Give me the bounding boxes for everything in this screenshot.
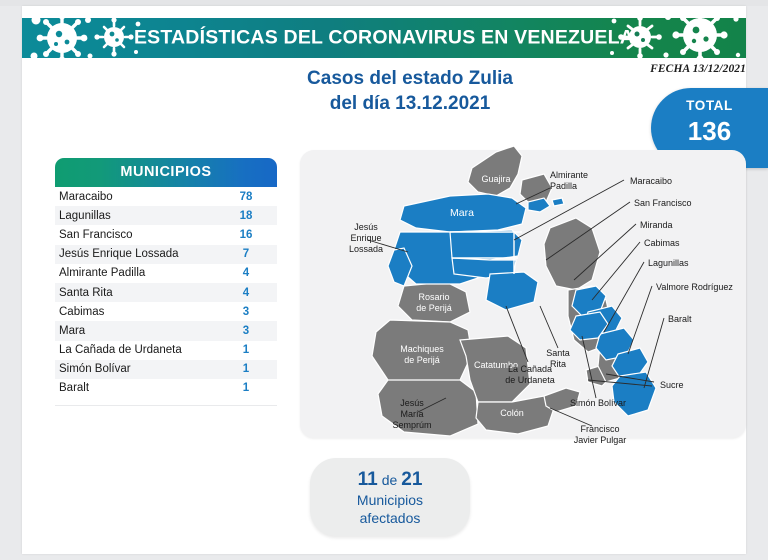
svg-text:Padilla: Padilla: [550, 181, 577, 191]
municipio-cases: 4: [215, 283, 277, 302]
svg-text:Colón: Colón: [500, 408, 524, 418]
table-row: La Cañada de Urdaneta1: [55, 341, 277, 360]
affected-summary-badge: 11de21 Municipios afectados: [310, 458, 470, 536]
municipio-cases: 78: [215, 187, 277, 206]
svg-text:de Perijá: de Perijá: [404, 355, 440, 365]
municipios-table: MUNICIPIOS Maracaibo78Lagunillas18San Fr…: [55, 158, 277, 406]
infographic-root: ESTADÍSTICAS DEL CORONAVIRUS EN VENEZUEL…: [0, 0, 768, 560]
banner-title: ESTADÍSTICAS DEL CORONAVIRUS EN VENEZUEL…: [22, 27, 746, 50]
svg-text:Simón Bolívar: Simón Bolívar: [570, 398, 626, 408]
municipio-name: San Francisco: [55, 225, 215, 244]
municipio-name: Baralt: [55, 379, 215, 398]
svg-text:Santa: Santa: [546, 348, 570, 358]
svg-text:Javier Pulgar: Javier Pulgar: [574, 435, 627, 445]
table-row: Almirante Padilla4: [55, 264, 277, 283]
table-row: Cabimas3: [55, 302, 277, 321]
svg-text:Lagunillas: Lagunillas: [648, 258, 689, 268]
svg-text:La Cañada: La Cañada: [508, 364, 552, 374]
municipio-cases: 3: [215, 321, 277, 340]
zulia-map: Guajira Mara Rosario de Perijá Machiques…: [300, 140, 768, 450]
table-row: Maracaibo78: [55, 187, 277, 206]
svg-text:María: María: [400, 409, 423, 419]
subtitle-line-1: Casos del estado Zulia: [200, 66, 620, 91]
svg-text:Francisco: Francisco: [580, 424, 619, 434]
municipio-name: Almirante Padilla: [55, 264, 215, 283]
svg-text:Rita: Rita: [550, 359, 566, 369]
municipio-cases: 4: [215, 264, 277, 283]
total-label: TOTAL: [651, 98, 768, 113]
table-row: San Francisco16: [55, 225, 277, 244]
svg-text:Guajira: Guajira: [481, 174, 510, 184]
svg-text:Almirante: Almirante: [550, 170, 588, 180]
municipio-name: Jesús Enrique Lossada: [55, 245, 215, 264]
svg-text:Jesús: Jesús: [400, 398, 424, 408]
svg-text:Jesús: Jesús: [354, 222, 378, 232]
municipio-name: La Cañada de Urdaneta: [55, 341, 215, 360]
banner: ESTADÍSTICAS DEL CORONAVIRUS EN VENEZUEL…: [22, 18, 746, 58]
table-row: Lagunillas18: [55, 206, 277, 225]
municipio-name: Simón Bolívar: [55, 360, 215, 379]
page-title: Casos del estado Zulia del día 13.12.202…: [200, 66, 620, 116]
svg-text:Valmore Rodríguez: Valmore Rodríguez: [656, 282, 733, 292]
subtitle-line-2: del día 13.12.2021: [200, 91, 620, 116]
affected-connector: de: [382, 472, 398, 488]
svg-text:San Francisco: San Francisco: [634, 198, 692, 208]
svg-text:Machiques: Machiques: [400, 344, 444, 354]
table-row: Jesús Enrique Lossada7: [55, 245, 277, 264]
affected-line-2: Municipios: [310, 491, 470, 509]
svg-text:Mara: Mara: [450, 207, 474, 219]
svg-text:Baralt: Baralt: [668, 314, 692, 324]
municipio-cases: 18: [215, 206, 277, 225]
affected-count: 11: [358, 469, 378, 490]
municipio-cases: 16: [215, 225, 277, 244]
table-body: Maracaibo78Lagunillas18San Francisco16Je…: [55, 187, 277, 398]
svg-text:Enrique: Enrique: [350, 233, 381, 243]
svg-text:de Urdaneta: de Urdaneta: [505, 375, 555, 385]
affected-total: 21: [401, 469, 422, 490]
table-footer-spacer: [55, 398, 277, 406]
municipio-cases: 1: [215, 360, 277, 379]
municipio-name: Cabimas: [55, 302, 215, 321]
municipio-name: Maracaibo: [55, 187, 215, 206]
table-header: MUNICIPIOS: [55, 158, 277, 187]
date-label: FECHA 13/12/2021: [650, 63, 746, 75]
municipio-name: Mara: [55, 321, 215, 340]
svg-text:Miranda: Miranda: [640, 220, 673, 230]
municipio-name: Lagunillas: [55, 206, 215, 225]
municipio-name: Santa Rita: [55, 283, 215, 302]
table-row: Simón Bolívar1: [55, 360, 277, 379]
affected-count-line: 11de21: [310, 469, 470, 491]
municipio-cases: 1: [215, 379, 277, 398]
svg-text:Semprúm: Semprúm: [392, 420, 431, 430]
svg-text:Maracaibo: Maracaibo: [630, 176, 672, 186]
svg-text:Rosario: Rosario: [418, 292, 449, 302]
table-row: Baralt1: [55, 379, 277, 398]
table-row: Mara3: [55, 321, 277, 340]
svg-text:de Perijá: de Perijá: [416, 303, 452, 313]
affected-line-3: afectados: [310, 509, 470, 527]
municipio-cases: 7: [215, 245, 277, 264]
svg-text:Cabimas: Cabimas: [644, 238, 680, 248]
svg-text:Sucre: Sucre: [660, 380, 684, 390]
municipio-cases: 3: [215, 302, 277, 321]
municipio-cases: 1: [215, 341, 277, 360]
svg-text:Lossada: Lossada: [349, 244, 383, 254]
table-row: Santa Rita4: [55, 283, 277, 302]
